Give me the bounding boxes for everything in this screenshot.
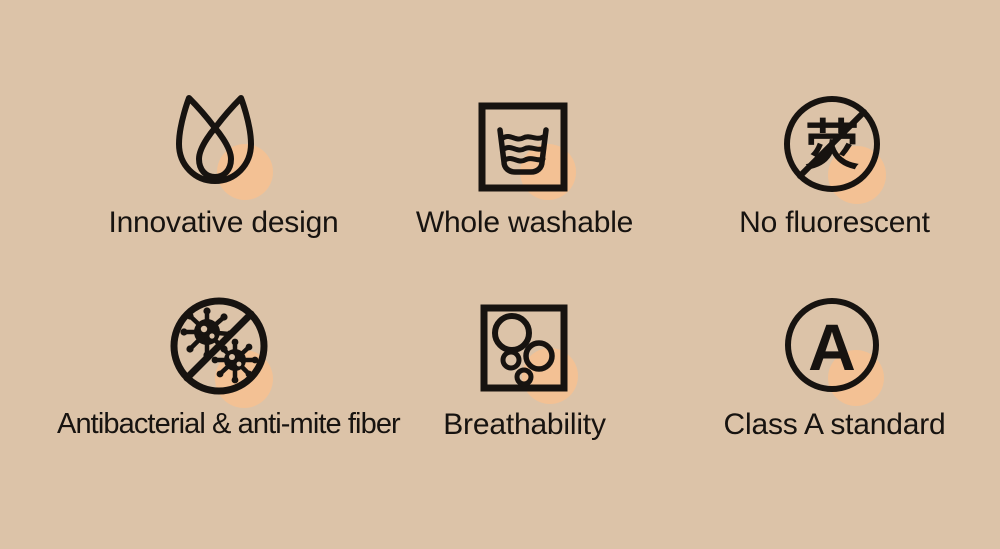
feature-item-class-a-standard: A Class A standard [668,288,1000,498]
icon-wrap: A [668,288,1000,408]
feature-banner: Innovative design Whole washable [0,0,1000,549]
feature-item-breathability: Breathability [358,288,691,498]
icon-stage: 荧 [770,86,900,206]
icon-wrap [57,288,390,408]
feature-item-whole-washable: Whole washable [358,86,691,296]
icon-stage [460,288,590,408]
icon-stage [159,86,289,206]
icon-wrap [358,288,691,408]
feature-label: Innovative design [57,206,390,240]
feature-label: Breathability [358,408,691,442]
no-bacteria-icon [159,288,289,408]
feature-label: Class A standard [668,408,1000,442]
feature-label: No fluorescent [668,206,1000,240]
icon-stage [159,288,289,408]
wash-basin-square-icon [460,86,590,206]
icon-wrap [57,86,390,206]
class-a-letter: A [808,310,856,384]
icon-wrap: 荧 [668,86,1000,206]
bubbles-square-icon [460,288,590,408]
feature-item-no-fluorescent: 荧 No fluorescent [668,86,1000,296]
icon-stage [460,86,590,206]
no-fluorescent-icon: 荧 [770,86,900,206]
class-a-circle-icon: A [770,288,900,408]
feature-item-innovative-design: Innovative design [57,86,390,296]
feature-label: Whole washable [358,206,691,240]
feature-label: Antibacterial & anti-mite fiber [57,408,390,441]
feature-grid: Innovative design Whole washable [0,0,1000,549]
icon-stage: A [770,288,900,408]
icon-wrap [358,86,691,206]
feature-item-antibacterial-anti-mite-fiber: Antibacterial & anti-mite fiber [57,288,390,498]
water-drop-leaf-icon [159,86,289,206]
